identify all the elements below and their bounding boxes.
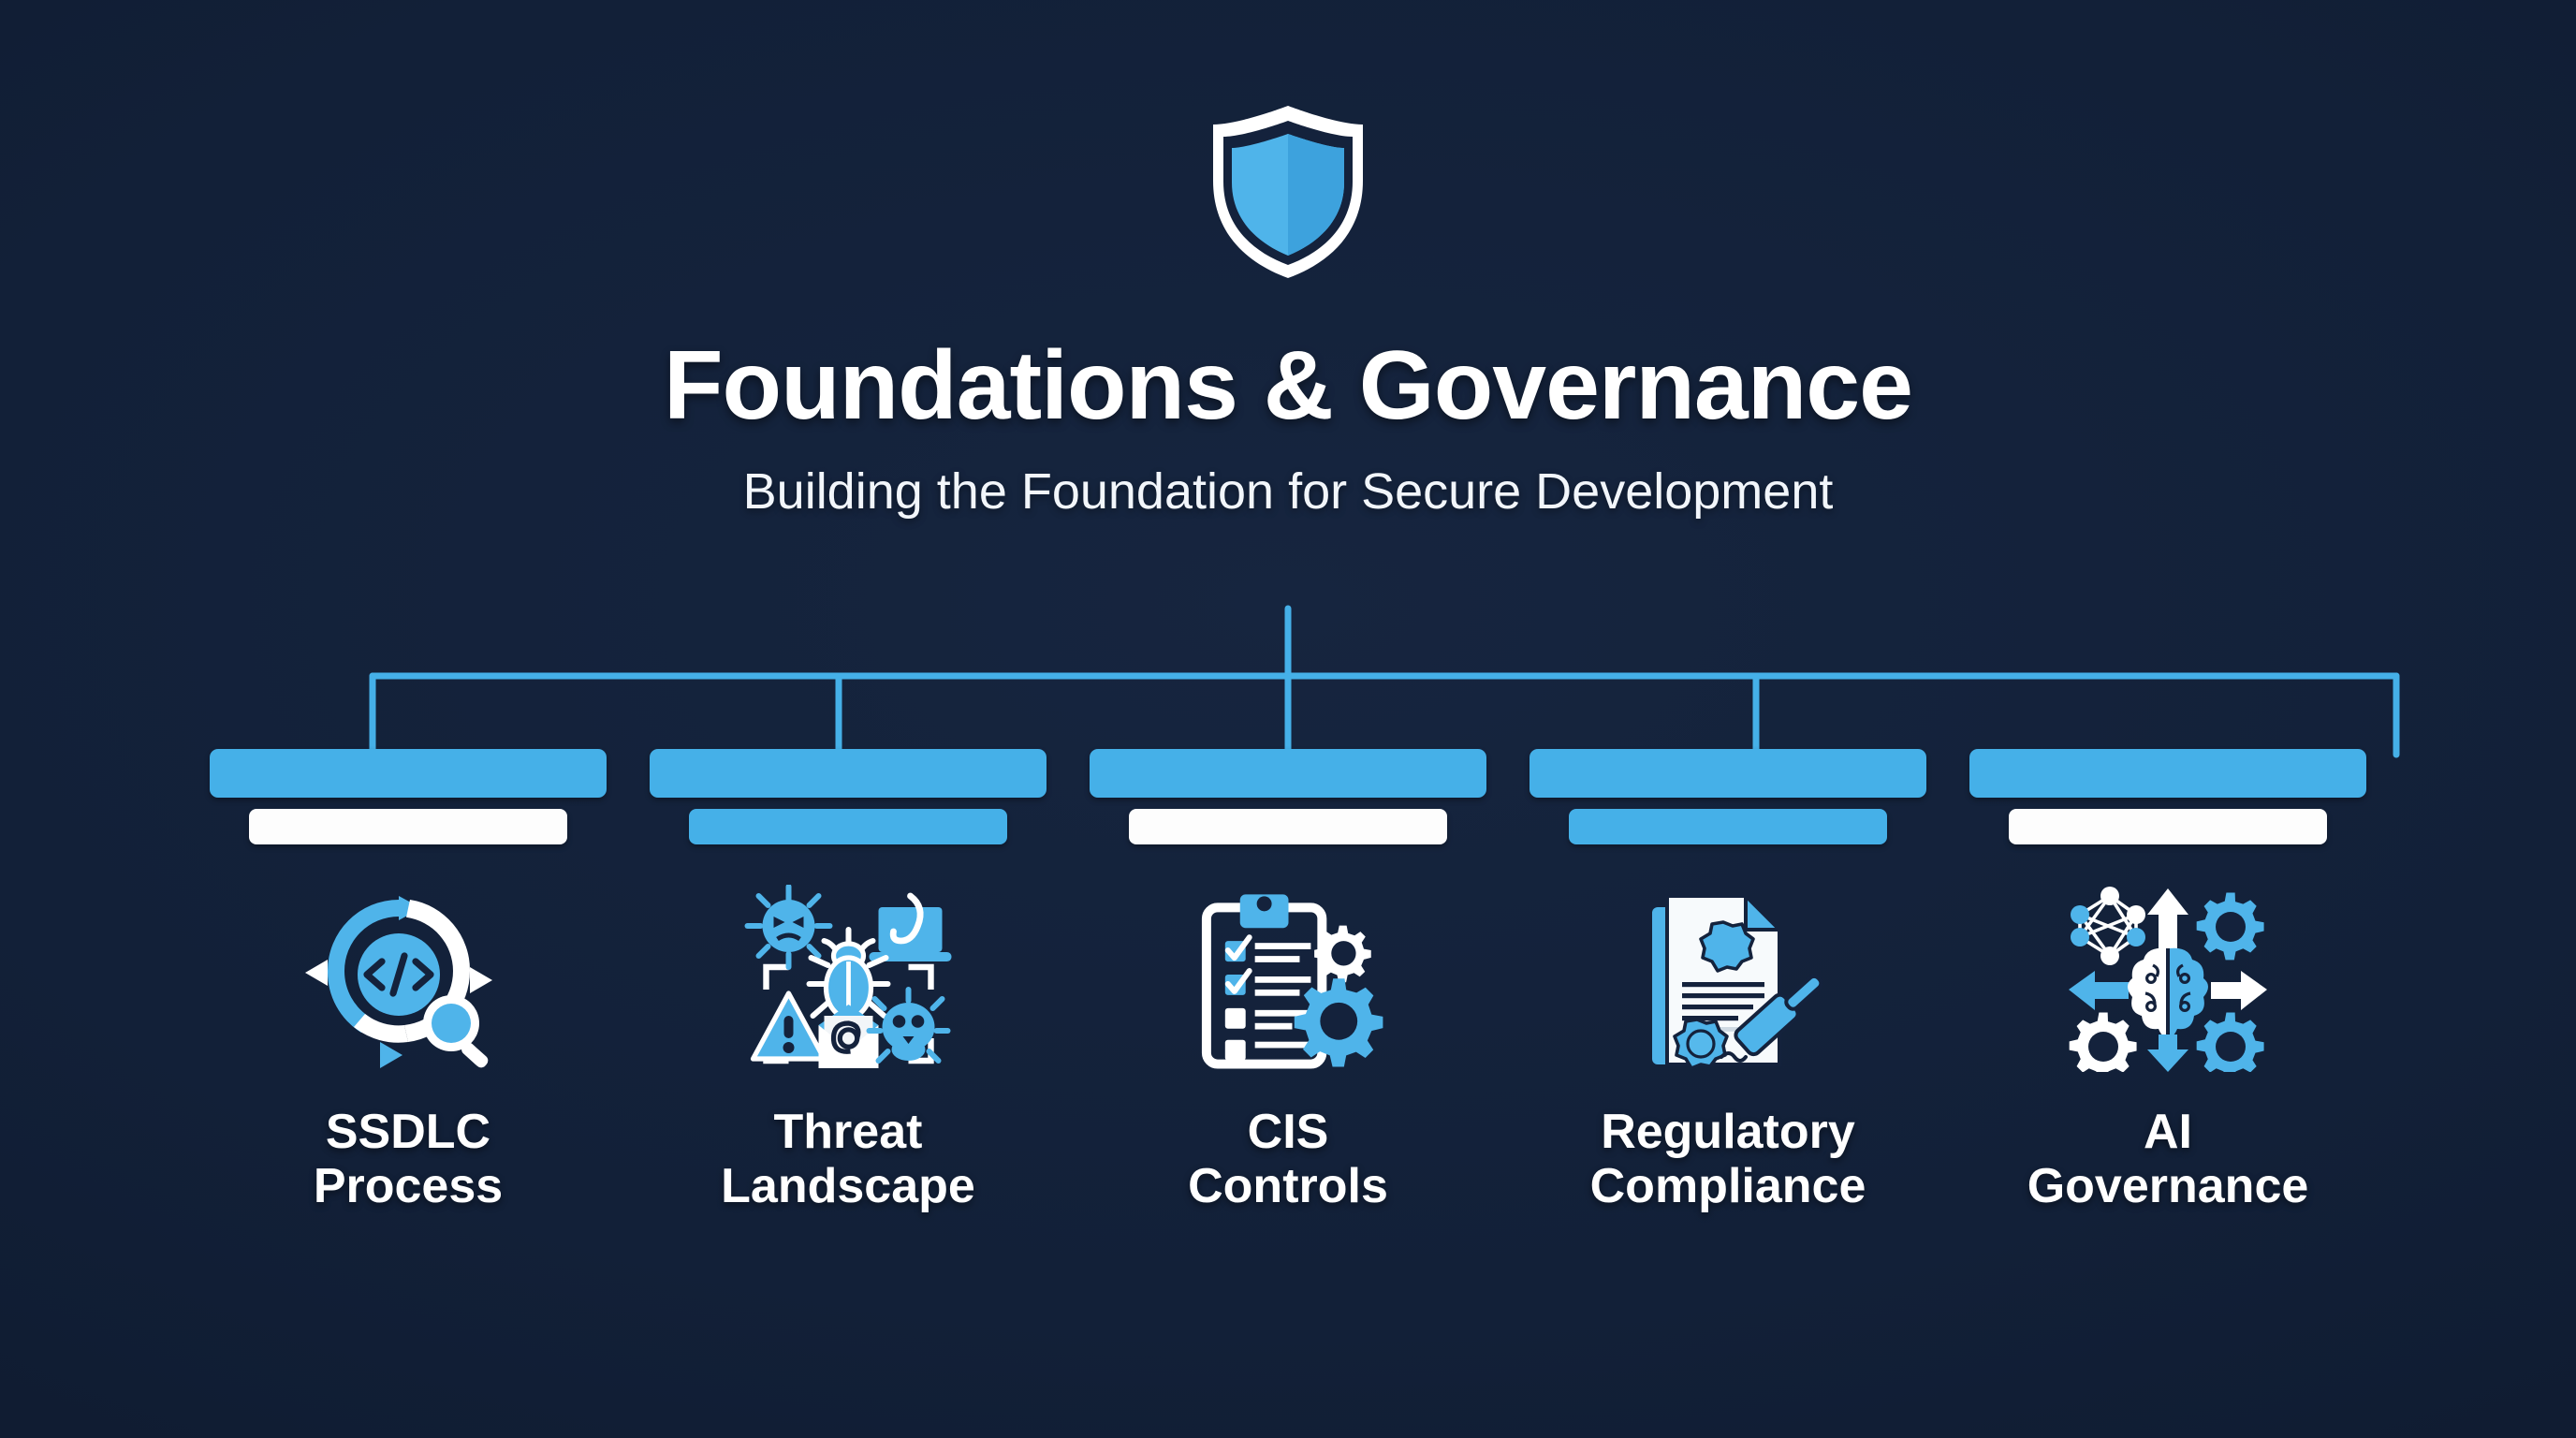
checklist-items-icon: [1224, 937, 1310, 1060]
regulatory-compliance-icon-container: [1611, 880, 1845, 1077]
gear-small-white-icon: [1314, 926, 1371, 983]
branch-label-threat-landscape: Threat Landscape: [721, 1105, 975, 1213]
arrow-left-blue-icon: [2069, 971, 2129, 1010]
cis-controls-checklist-icon-container: [1171, 880, 1405, 1077]
branch-bar-sub-1: [249, 809, 567, 844]
gear-large-blue-icon: [1294, 978, 1383, 1066]
regulatory-compliance-icon: [1630, 885, 1826, 1072]
gear-blue-bottom-right-icon: [2197, 1013, 2264, 1072]
branch-column-ai-governance[interactable]: AI Governance: [1948, 749, 2388, 1213]
branch-bar-main-5: [1969, 749, 2366, 798]
branch-bar-main-1: [210, 749, 607, 798]
gear-blue-top-right-icon: [2197, 893, 2264, 961]
branch-label-regulatory-compliance: Regulatory Compliance: [1590, 1105, 1866, 1213]
branch-bar-sub-4: [1569, 809, 1887, 844]
bug-icon: [809, 930, 887, 1018]
warning-triangle-icon: [753, 993, 824, 1059]
branch-column-regulatory-compliance[interactable]: Regulatory Compliance: [1508, 749, 1948, 1213]
branch-bar-main-2: [650, 749, 1046, 798]
branch-label-cis-controls: CIS Controls: [1188, 1105, 1388, 1213]
magnifying-glass-icon: [423, 995, 490, 1070]
virus-icon: [747, 887, 829, 967]
branch-bar-sub-2: [689, 809, 1007, 844]
ssdlc-cycle-code-icon: [305, 885, 511, 1072]
branch-column-cis-controls[interactable]: CIS Controls: [1068, 749, 1508, 1213]
branch-bar-sub-3: [1129, 809, 1447, 844]
branch-label-ssdlc-process: SSDLC Process: [314, 1105, 503, 1213]
heading-block: Foundations & Governance Building the Fo…: [0, 337, 2576, 517]
branch-bar-main-4: [1529, 749, 1926, 798]
arrow-down-blue-icon: [2147, 1034, 2188, 1072]
gear-white-bottom-left-icon: [2070, 1013, 2137, 1072]
page-title: Foundations & Governance: [0, 337, 2576, 434]
email-at-icon: [818, 1005, 878, 1068]
branch-bar-main-3: [1090, 749, 1486, 798]
branch-columns: SSDLC Process: [0, 749, 2576, 1213]
branch-bar-sub-5: [2009, 809, 2327, 844]
neural-network-nodes-icon: [2071, 887, 2145, 965]
page-subtitle: Building the Foundation for Secure Devel…: [0, 466, 2576, 517]
branch-column-ssdlc-process[interactable]: SSDLC Process: [188, 749, 628, 1213]
cis-controls-checklist-icon: [1188, 885, 1389, 1072]
branch-label-ai-governance: AI Governance: [2027, 1105, 2309, 1213]
infographic-canvas: Foundations & Governance Building the Fo…: [0, 0, 2576, 1438]
arrow-right-white-icon: [2211, 971, 2267, 1010]
malware-skull-icon: [869, 990, 947, 1061]
threat-landscape-icon: [743, 885, 954, 1072]
threat-landscape-icon-container: [731, 880, 965, 1077]
ai-governance-icon-container: [2051, 880, 2285, 1077]
arrow-up-white-icon: [2147, 888, 2188, 948]
branch-column-threat-landscape[interactable]: Threat Landscape: [628, 749, 1068, 1213]
brain-split-icon: [2128, 948, 2208, 1035]
shield-icon-container: [0, 98, 2576, 286]
laptop-phishing-icon: [869, 896, 951, 961]
ai-governance-icon: [2065, 885, 2271, 1072]
ssdlc-cycle-code-icon-container: [291, 880, 525, 1077]
shield-icon: [1194, 98, 1382, 286]
